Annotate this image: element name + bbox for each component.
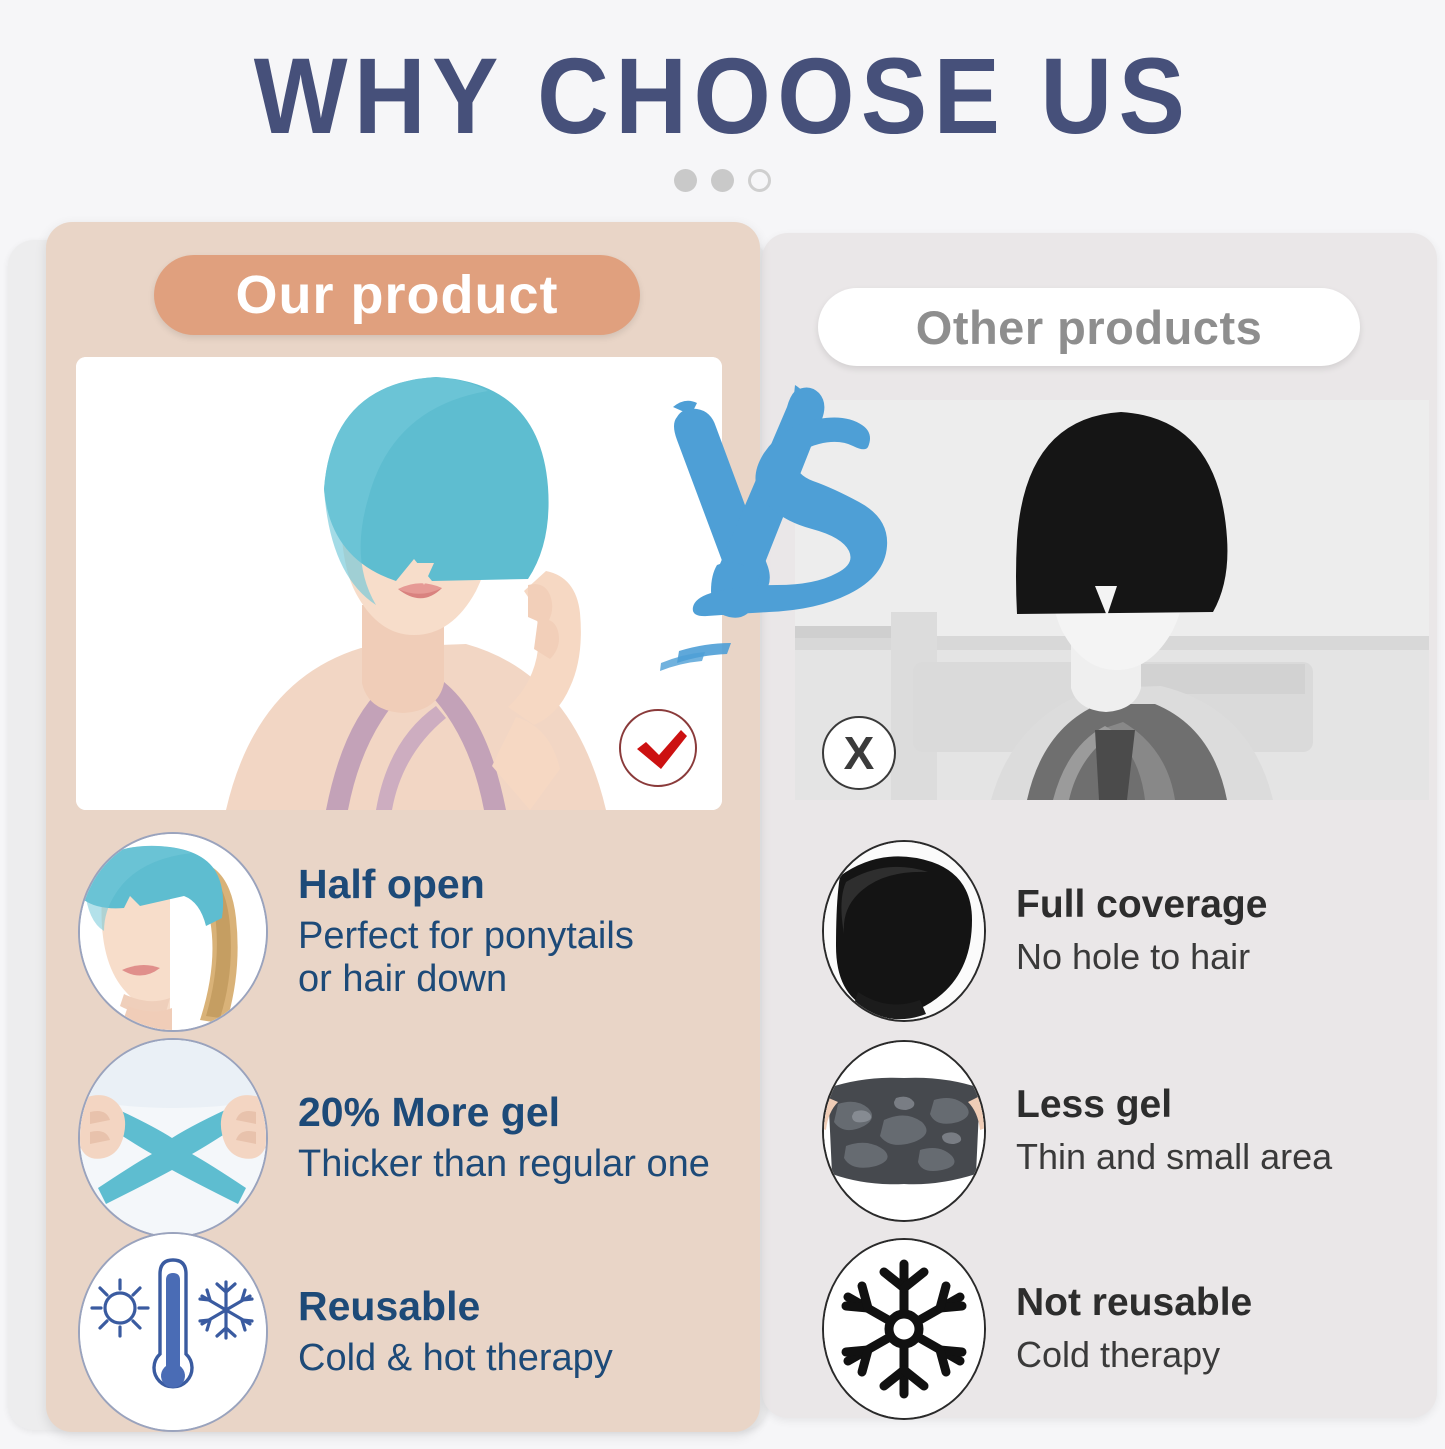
header: WHY CHOOSE US — [0, 0, 1445, 205]
other-feature-row-not-reusable: Not reusable Cold therapy — [822, 1238, 1252, 1420]
thermometer-sun-snowflake-icon — [78, 1232, 268, 1432]
other-products-badge: Other products — [818, 288, 1360, 366]
page-title: WHY CHOOSE US — [58, 42, 1387, 150]
gel-pack-stretch-photo-icon — [78, 1038, 268, 1238]
our-feature-row-reusable: Reusable Cold & hot therapy — [78, 1232, 613, 1432]
feature-title: Full coverage — [1016, 885, 1267, 926]
check-icon — [619, 709, 697, 787]
carousel-dot-1[interactable] — [674, 169, 697, 192]
carousel-dot-3[interactable] — [748, 169, 771, 192]
feature-text: Full coverage No hole to hair — [1016, 885, 1267, 977]
feature-title: 20% More gel — [298, 1091, 710, 1134]
feature-text: Half open Perfect for ponytails or hair … — [298, 863, 634, 1000]
thin-gel-pack-photo-icon — [822, 1040, 986, 1222]
feature-text: 20% More gel Thicker than regular one — [298, 1091, 710, 1186]
carousel-dot-2[interactable] — [711, 169, 734, 192]
other-feature-row-less-gel: Less gel Thin and small area — [822, 1040, 1332, 1222]
feature-subtitle: Cold therapy — [1016, 1335, 1252, 1375]
carousel-dots — [0, 169, 1445, 192]
feature-subtitle-line: Perfect for ponytails — [298, 915, 634, 958]
feature-title: Half open — [298, 863, 634, 906]
feature-subtitle-line: or hair down — [298, 958, 634, 1001]
feature-title: Less gel — [1016, 1085, 1332, 1126]
feature-subtitle: Perfect for ponytails or hair down — [298, 915, 634, 1000]
half-open-cap-photo-icon — [78, 832, 268, 1032]
our-product-badge: Our product — [154, 255, 640, 335]
other-feature-row-full-coverage: Full coverage No hole to hair — [822, 840, 1267, 1022]
snowflake-icon — [822, 1238, 986, 1420]
feature-text: Reusable Cold & hot therapy — [298, 1285, 613, 1380]
black-cap-photo-icon — [822, 840, 986, 1022]
feature-subtitle: No hole to hair — [1016, 937, 1267, 977]
feature-text: Less gel Thin and small area — [1016, 1085, 1332, 1177]
feature-title: Not reusable — [1016, 1283, 1252, 1324]
feature-subtitle: Thin and small area — [1016, 1137, 1332, 1177]
feature-title: Reusable — [298, 1285, 613, 1328]
feature-text: Not reusable Cold therapy — [1016, 1283, 1252, 1375]
our-feature-row-half-open: Half open Perfect for ponytails or hair … — [78, 832, 634, 1032]
feature-subtitle: Thicker than regular one — [298, 1143, 710, 1186]
feature-subtitle: Cold & hot therapy — [298, 1337, 613, 1380]
our-feature-row-more-gel: 20% More gel Thicker than regular one — [78, 1038, 710, 1238]
x-icon: X — [822, 716, 896, 790]
